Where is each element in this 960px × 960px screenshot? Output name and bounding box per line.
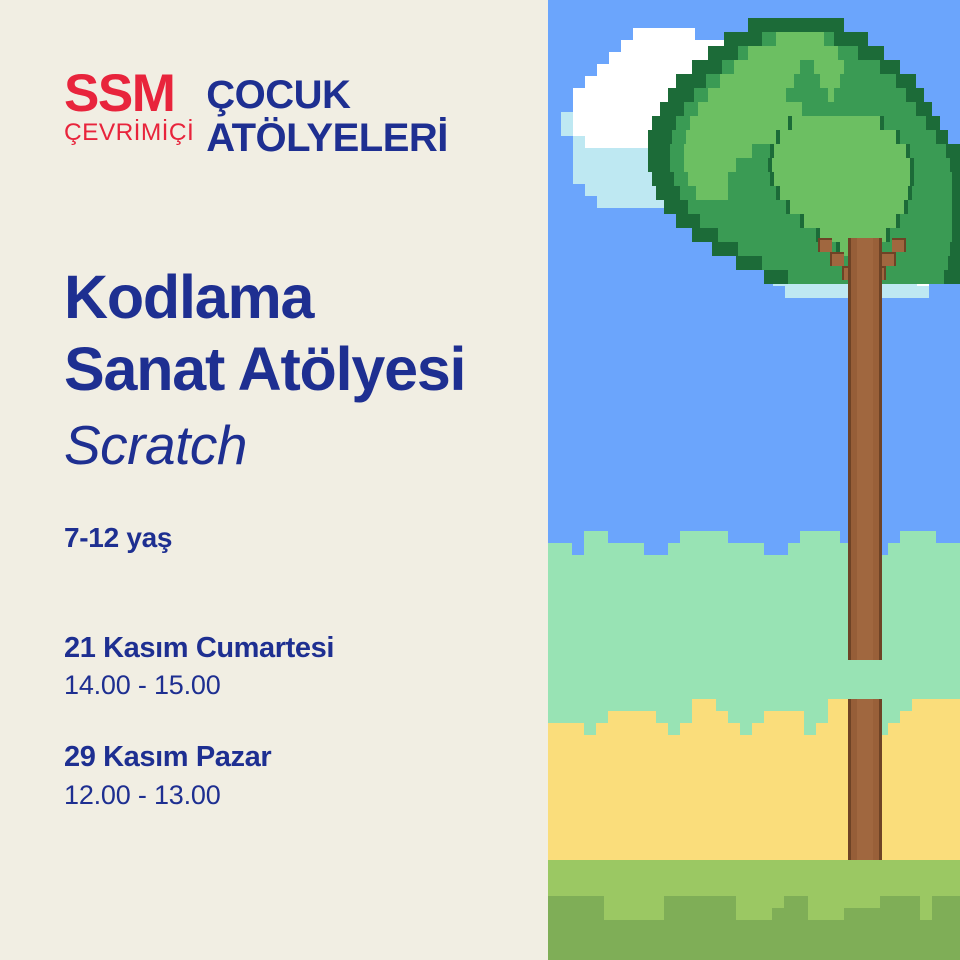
- brand-logo-left: SSM ÇEVRİMİÇİ: [64, 70, 194, 145]
- program-title-line-1: ÇOCUK: [206, 74, 350, 117]
- poster-canvas: SSM ÇEVRİMİÇİ ÇOCUK ATÖLYELERİ Kodlama S…: [0, 0, 960, 960]
- headline-subtitle: Scratch: [64, 410, 534, 482]
- session-list: 21 Kasım Cumartesi 14.00 - 15.00 29 Kası…: [64, 630, 504, 813]
- meadow-mint-band: [548, 531, 960, 735]
- program-title: ÇOCUK ATÖLYELERİ: [206, 74, 448, 160]
- session-time: 12.00 - 13.00: [64, 778, 504, 813]
- session-item: 21 Kasım Cumartesi 14.00 - 15.00: [64, 630, 504, 703]
- grass-bands: [548, 860, 960, 960]
- illustration-panel: [548, 0, 960, 960]
- session-date: 21 Kasım Cumartesi: [64, 630, 504, 666]
- program-title-line-2: ATÖLYELERİ: [206, 117, 448, 160]
- pixel-landscape-illustration: [548, 0, 960, 960]
- session-time: 14.00 - 15.00: [64, 668, 504, 703]
- field-yellow-band: [548, 699, 960, 869]
- text-panel: SSM ÇEVRİMİÇİ ÇOCUK ATÖLYELERİ Kodlama S…: [0, 0, 548, 960]
- brand-subtitle: ÇEVRİMİÇİ: [64, 121, 194, 146]
- session-date: 29 Kasım Pazar: [64, 739, 504, 775]
- headline-line-1: Kodlama: [64, 262, 534, 334]
- workshop-headline: Kodlama Sanat Atölyesi Scratch: [64, 262, 534, 481]
- headline-line-2: Sanat Atölyesi: [64, 334, 534, 406]
- session-item: 29 Kasım Pazar 12.00 - 13.00: [64, 739, 504, 812]
- brand-logo: SSM ÇEVRİMİÇİ ÇOCUK ATÖLYELERİ: [64, 70, 448, 160]
- age-range-label: 7-12 yaş: [64, 522, 172, 554]
- brand-name: SSM: [64, 70, 174, 119]
